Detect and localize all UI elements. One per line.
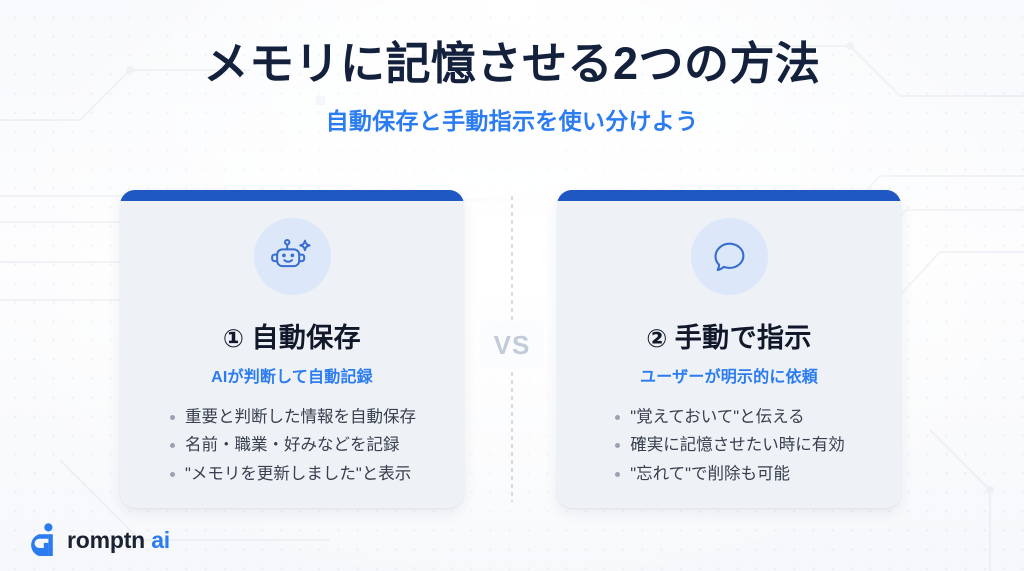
method-card-manual-instruction[interactable]: ② 手動で指示 ユーザーが明示的に依頼 "覚えておいて"と伝える 確実に記憶させ…	[557, 190, 901, 508]
card-title-text: 手動で指示	[675, 316, 812, 355]
page-subtitle: 自動保存と手動指示を使い分けよう	[0, 102, 1024, 136]
card-subtitle: AIが判断して自動記録	[211, 363, 373, 387]
comparison-section: ① 自動保存 AIが判断して自動記録 重要と判断した情報を自動保存 名前・職業・…	[0, 190, 1024, 510]
slide-header: メモリに記憶させる2つの方法 自動保存と手動指示を使い分けよう	[0, 38, 1024, 136]
list-item: "忘れて"で削除も可能	[613, 460, 845, 488]
list-item: 重要と判断した情報を自動保存	[168, 403, 416, 431]
card-title: ① 自動保存	[223, 316, 361, 355]
brand-logo: romptn ai	[26, 523, 170, 557]
card-title-text: 自動保存	[251, 316, 361, 355]
card-accent-bar	[557, 190, 901, 201]
card-bullet-list: 重要と判断した情報を自動保存 名前・職業・好みなどを記録 "メモリを更新しました…	[168, 403, 416, 488]
list-item: "覚えておいて"と伝える	[613, 403, 845, 431]
card-number: ②	[646, 324, 668, 354]
card-bullet-list: "覚えておいて"と伝える 確実に記憶させたい時に有効 "忘れて"で削除も可能	[613, 403, 845, 488]
brand-name: romptn	[67, 527, 145, 553]
robot-sparkle-icon	[254, 218, 331, 295]
list-item: "メモリを更新しました"と表示	[168, 460, 416, 488]
list-item: 確実に記憶させたい時に有効	[613, 431, 845, 459]
card-accent-bar	[120, 190, 464, 201]
brand-logo-text: romptn ai	[67, 527, 170, 554]
brand-suffix: ai	[145, 527, 170, 553]
page-title: メモリに記憶させる2つの方法	[0, 38, 1024, 90]
speech-bubble-icon	[691, 218, 768, 295]
card-subtitle: ユーザーが明示的に依頼	[640, 363, 818, 387]
card-title: ② 手動で指示	[646, 316, 812, 355]
card-number: ①	[223, 324, 245, 354]
list-item: 名前・職業・好みなどを記録	[168, 431, 416, 459]
method-card-auto-save[interactable]: ① 自動保存 AIが判断して自動記録 重要と判断した情報を自動保存 名前・職業・…	[120, 190, 464, 508]
romptn-logo-mark-icon	[26, 523, 56, 557]
vs-label: VS	[481, 321, 543, 369]
